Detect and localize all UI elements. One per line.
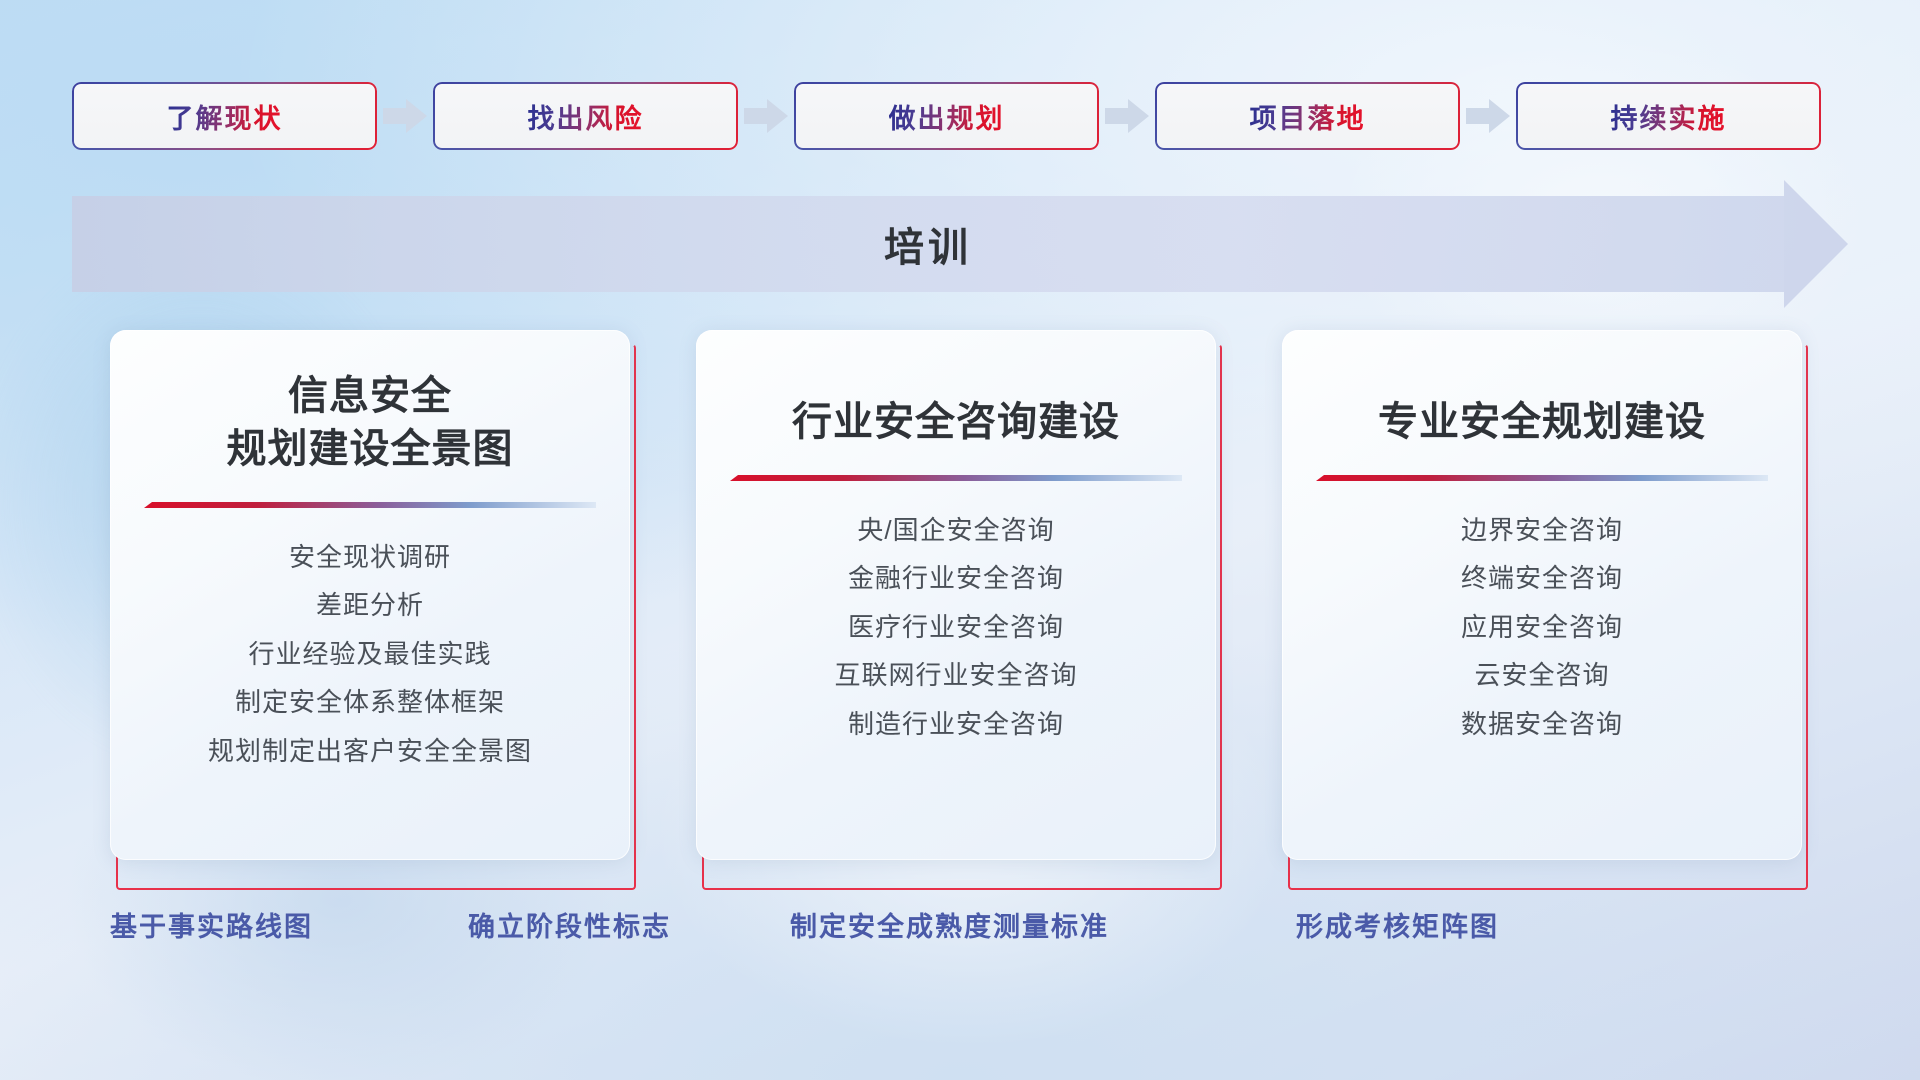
card-3-item-5: 数据安全咨询: [1461, 708, 1623, 741]
card-2-item-4: 互联网行业安全咨询: [834, 659, 1077, 692]
card-1[interactable]: 信息安全 规划建设全景图 安全现状调研: [110, 330, 630, 860]
card-2-title: 行业安全咨询建设: [792, 370, 1120, 449]
process-steps: 了解现状 找出风险 做出规划 项目落地 持续实施: [72, 82, 1848, 150]
training-banner: 培训: [72, 196, 1848, 292]
card-3-wrapper: 专业安全规划建设 边界安全咨询: [1282, 330, 1808, 890]
step-4[interactable]: 项目落地: [1155, 82, 1460, 150]
bottom-label-2: 确立阶段性标志: [468, 905, 671, 944]
card-1-item-2: 差距分析: [316, 589, 424, 622]
card-1-wrapper: 信息安全 规划建设全景图 安全现状调研: [110, 330, 636, 890]
card-2-item-3: 医疗行业安全咨询: [848, 611, 1064, 644]
step-5-label: 持续实施: [1611, 97, 1727, 136]
bottom-label-3: 制定安全成熟度测量标准: [790, 905, 1109, 944]
card-2-item-1: 央/国企安全咨询: [857, 514, 1054, 547]
card-3-divider: [1316, 475, 1768, 484]
banner-title: 培训: [72, 196, 1784, 292]
card-1-divider: [144, 502, 596, 511]
card-3-item-1: 边界安全咨询: [1461, 514, 1623, 547]
step-5[interactable]: 持续实施: [1516, 82, 1821, 150]
step-arrow-4: [1460, 94, 1516, 138]
card-1-item-1: 安全现状调研: [289, 541, 451, 574]
card-2-list: 央/国企安全咨询 金融行业安全咨询 医疗行业安全咨询 互联网行业安全咨询 制造行…: [730, 514, 1182, 741]
card-3[interactable]: 专业安全规划建设 边界安全咨询: [1282, 330, 1802, 860]
bottom-label-row: 基于事实路线图 确立阶段性标志 制定安全成熟度测量标准 形成考核矩阵图: [0, 905, 1920, 975]
card-1-item-3: 行业经验及最佳实践: [248, 638, 491, 671]
card-1-item-5: 规划制定出客户安全全景图: [208, 735, 532, 768]
card-1-item-4: 制定安全体系整体框架: [235, 686, 505, 719]
card-1-title: 信息安全 规划建设全景图: [227, 370, 514, 476]
banner-arrow-tip-icon: [1784, 180, 1848, 308]
card-3-item-2: 终端安全咨询: [1461, 562, 1623, 595]
step-1[interactable]: 了解现状: [72, 82, 377, 150]
step-2[interactable]: 找出风险: [433, 82, 738, 150]
step-3-label: 做出规划: [889, 97, 1005, 136]
bottom-label-4: 形成考核矩阵图: [1296, 905, 1499, 944]
card-2-divider: [730, 475, 1182, 484]
bottom-label-1: 基于事实路线图: [110, 905, 313, 944]
step-1-label: 了解现状: [167, 97, 283, 136]
card-3-title: 专业安全规划建设: [1378, 370, 1706, 449]
card-3-item-4: 云安全咨询: [1474, 659, 1609, 692]
card-2[interactable]: 行业安全咨询建设 央/国企安全咨询: [696, 330, 1216, 860]
card-1-list: 安全现状调研 差距分析 行业经验及最佳实践 制定安全体系整体框架 规划制定出客户…: [144, 541, 596, 768]
card-2-item-5: 制造行业安全咨询: [848, 708, 1064, 741]
card-3-item-3: 应用安全咨询: [1461, 611, 1623, 644]
step-2-label: 找出风险: [528, 97, 644, 136]
card-2-item-2: 金融行业安全咨询: [848, 562, 1064, 595]
card-2-wrapper: 行业安全咨询建设 央/国企安全咨询: [696, 330, 1222, 890]
step-arrow-2: [738, 94, 794, 138]
card-3-list: 边界安全咨询 终端安全咨询 应用安全咨询 云安全咨询 数据安全咨询: [1316, 514, 1768, 741]
step-3[interactable]: 做出规划: [794, 82, 1099, 150]
step-arrow-1: [377, 94, 433, 138]
step-4-label: 项目落地: [1250, 97, 1366, 136]
step-arrow-3: [1099, 94, 1155, 138]
card-group: 信息安全 规划建设全景图 安全现状调研: [110, 330, 1810, 890]
